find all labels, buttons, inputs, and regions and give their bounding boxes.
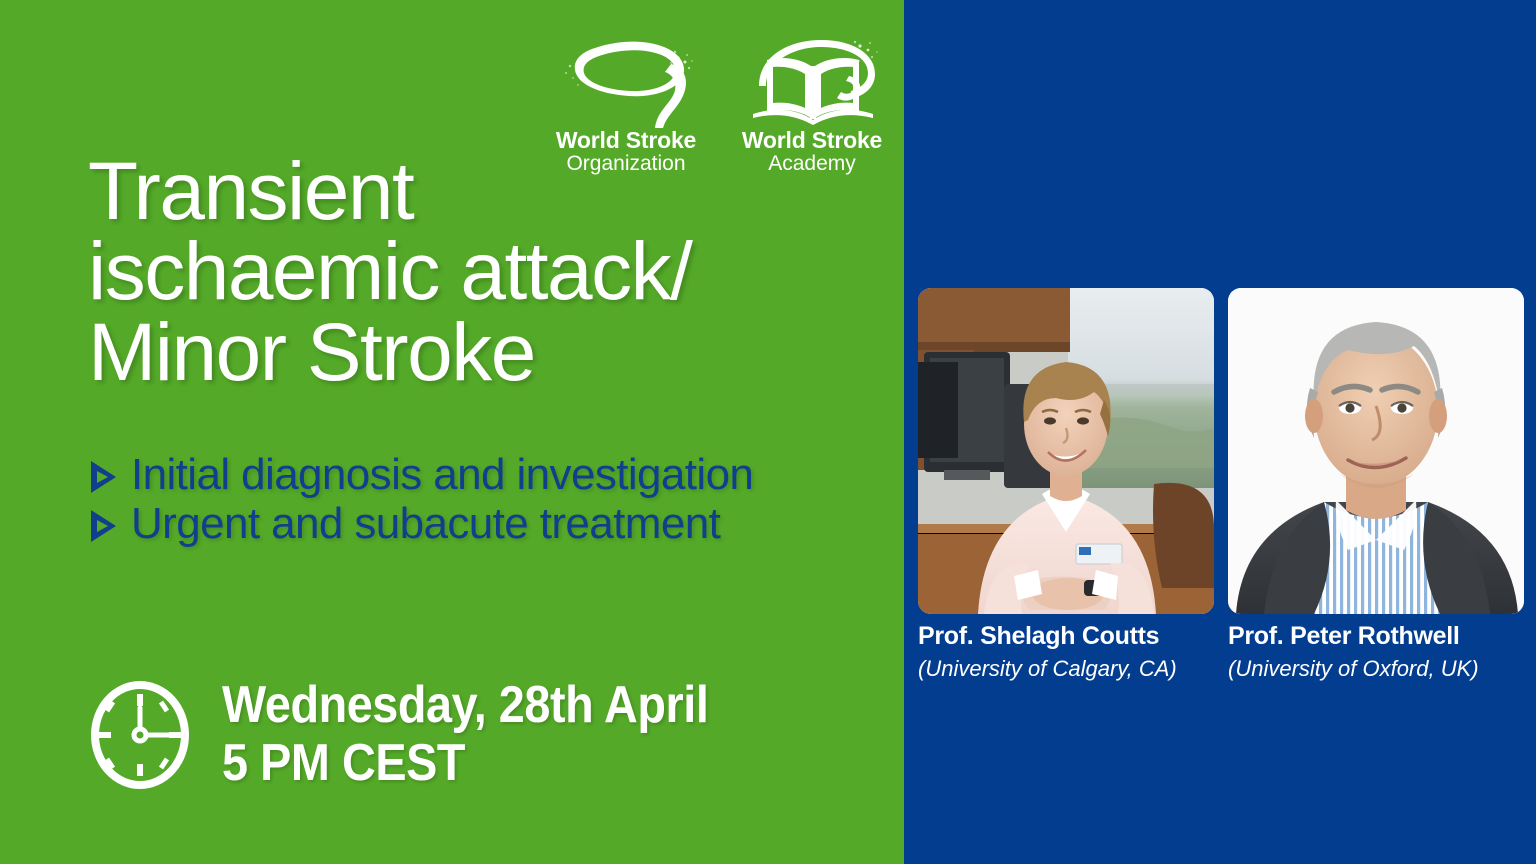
portrait-image (918, 288, 1214, 614)
title-line-1: Transient (88, 152, 878, 232)
open-book-brain-logo-mark (737, 36, 887, 132)
event-date: Wednesday, 28th April (222, 676, 708, 734)
speaker-caption: Prof. Peter Rothwell (University of Oxfo… (1228, 622, 1524, 682)
portrait-shelagh-coutts (918, 288, 1214, 614)
speaker-caption-group: Prof. Shelagh Coutts (University of Calg… (918, 622, 1524, 682)
speaker-name: Prof. Peter Rothwell (1228, 622, 1524, 651)
brain-swoosh-logo-mark (551, 36, 701, 132)
webinar-promo-poster: World Stroke Organization (0, 0, 1536, 864)
speaker-affiliation: (University of Calgary, CA) (918, 656, 1214, 682)
speaker-caption: Prof. Shelagh Coutts (University of Calg… (918, 622, 1214, 682)
logo-line1: World Stroke (742, 128, 882, 152)
triangle-bullet-icon (88, 509, 118, 543)
poster-title: Transient ischaemic attack/ Minor Stroke (88, 152, 878, 393)
speaker-name: Prof. Shelagh Coutts (918, 622, 1214, 651)
speaker-affiliation: (University of Oxford, UK) (1228, 656, 1524, 682)
triangle-bullet-icon (88, 460, 118, 494)
schedule-block: Wednesday, 28th April 5 PM CEST (88, 676, 762, 792)
logo-line1: World Stroke (556, 128, 696, 152)
portrait-image (1228, 288, 1524, 614)
event-time: 5 PM CEST (222, 734, 708, 792)
schedule-text: Wednesday, 28th April 5 PM CEST (222, 676, 708, 792)
topic-list: Initial diagnosis and investigation Urge… (88, 452, 888, 549)
clock-icon (88, 680, 192, 790)
title-line-3: Minor Stroke (88, 313, 878, 393)
speaker-photo-group (918, 288, 1524, 614)
list-item: Urgent and subacute treatment (88, 501, 888, 548)
list-item-label: Initial diagnosis and investigation (131, 452, 753, 499)
portrait-peter-rothwell (1228, 288, 1524, 614)
title-line-2: ischaemic attack/ (88, 232, 878, 312)
list-item-label: Urgent and subacute treatment (131, 501, 720, 548)
list-item: Initial diagnosis and investigation (88, 452, 888, 499)
